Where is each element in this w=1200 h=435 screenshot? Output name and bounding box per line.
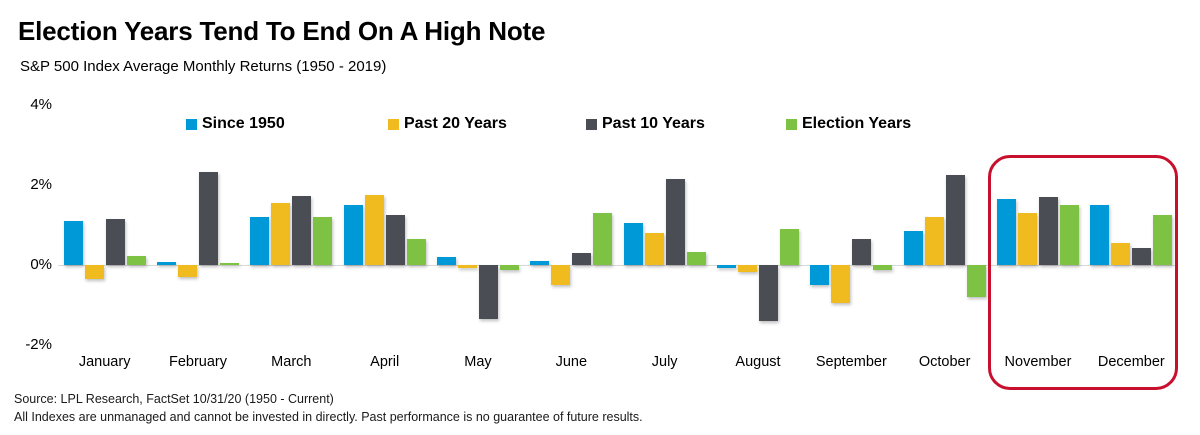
x-axis-label-may: May (431, 354, 524, 370)
bar-december-election-years[interactable] (1153, 215, 1172, 265)
x-axis-label-june: June (525, 354, 618, 370)
bar-september-past-20-years[interactable] (831, 265, 850, 303)
bar-january-past-20-years[interactable] (85, 265, 104, 279)
x-axis-label-february: February (151, 354, 244, 370)
bar-december-since-1950[interactable] (1090, 205, 1109, 265)
bar-may-since-1950[interactable] (437, 257, 456, 265)
month-group-april: April (338, 0, 431, 435)
bar-april-since-1950[interactable] (344, 205, 363, 265)
bar-september-since-1950[interactable] (810, 265, 829, 285)
bar-december-past-10-years[interactable] (1132, 248, 1151, 265)
bar-october-past-10-years[interactable] (946, 175, 965, 265)
bar-november-since-1950[interactable] (997, 199, 1016, 265)
month-group-november: November (991, 0, 1084, 435)
month-group-october: October (898, 0, 991, 435)
bar-august-since-1950[interactable] (717, 265, 736, 268)
bar-january-election-years[interactable] (127, 256, 146, 265)
bar-november-election-years[interactable] (1060, 205, 1079, 265)
x-axis-label-october: October (898, 354, 991, 370)
bar-may-past-10-years[interactable] (479, 265, 498, 319)
month-group-august: August (711, 0, 804, 435)
bar-february-election-years[interactable] (220, 263, 239, 266)
chart-plot-area: Election Years Tend To End On A High Not… (0, 0, 1200, 435)
month-group-july: July (618, 0, 711, 435)
footer-disclaimer: All Indexes are unmanaged and cannot be … (14, 408, 643, 426)
bar-march-past-20-years[interactable] (271, 203, 290, 265)
bar-january-since-1950[interactable] (64, 221, 83, 265)
bar-april-past-20-years[interactable] (365, 195, 384, 265)
bar-april-election-years[interactable] (407, 239, 426, 265)
chart-footer: Source: LPL Research, FactSet 10/31/20 (… (14, 390, 643, 426)
bar-march-election-years[interactable] (313, 217, 332, 265)
month-group-march: March (245, 0, 338, 435)
bar-december-past-20-years[interactable] (1111, 243, 1130, 265)
bar-february-since-1950[interactable] (157, 262, 176, 265)
month-group-december: December (1085, 0, 1178, 435)
x-axis-label-july: July (618, 354, 711, 370)
month-group-september: September (805, 0, 898, 435)
bar-june-past-20-years[interactable] (551, 265, 570, 285)
bar-june-election-years[interactable] (593, 213, 612, 265)
bar-june-past-10-years[interactable] (572, 253, 591, 265)
bar-november-past-20-years[interactable] (1018, 213, 1037, 265)
bar-march-since-1950[interactable] (250, 217, 269, 265)
bar-november-past-10-years[interactable] (1039, 197, 1058, 265)
bar-august-past-20-years[interactable] (738, 265, 757, 272)
bar-february-past-10-years[interactable] (199, 172, 218, 265)
footer-source: Source: LPL Research, FactSet 10/31/20 (… (14, 390, 643, 408)
x-axis-label-march: March (245, 354, 338, 370)
chart-bars-layer: JanuaryFebruaryMarchAprilMayJuneJulyAugu… (0, 0, 1200, 435)
month-group-june: June (525, 0, 618, 435)
x-axis-label-september: September (805, 354, 898, 370)
bar-september-past-10-years[interactable] (852, 239, 871, 265)
bar-july-since-1950[interactable] (624, 223, 643, 265)
bar-july-election-years[interactable] (687, 252, 706, 265)
month-group-february: February (151, 0, 244, 435)
bar-april-past-10-years[interactable] (386, 215, 405, 265)
bar-february-past-20-years[interactable] (178, 265, 197, 277)
bar-january-past-10-years[interactable] (106, 219, 125, 265)
bar-october-past-20-years[interactable] (925, 217, 944, 265)
x-axis-label-january: January (58, 354, 151, 370)
bar-july-past-10-years[interactable] (666, 179, 685, 265)
bar-may-past-20-years[interactable] (458, 265, 477, 268)
bar-june-since-1950[interactable] (530, 261, 549, 265)
bar-july-past-20-years[interactable] (645, 233, 664, 265)
x-axis-label-august: August (711, 354, 804, 370)
bar-october-since-1950[interactable] (904, 231, 923, 265)
x-axis-label-november: November (991, 354, 1084, 370)
month-group-january: January (58, 0, 151, 435)
bar-october-election-years[interactable] (967, 265, 986, 297)
x-axis-label-april: April (338, 354, 431, 370)
bar-august-election-years[interactable] (780, 229, 799, 265)
bar-september-election-years[interactable] (873, 265, 892, 270)
month-group-may: May (431, 0, 524, 435)
x-axis-label-december: December (1085, 354, 1178, 370)
bar-march-past-10-years[interactable] (292, 196, 311, 265)
bar-august-past-10-years[interactable] (759, 265, 778, 321)
bar-may-election-years[interactable] (500, 265, 519, 270)
